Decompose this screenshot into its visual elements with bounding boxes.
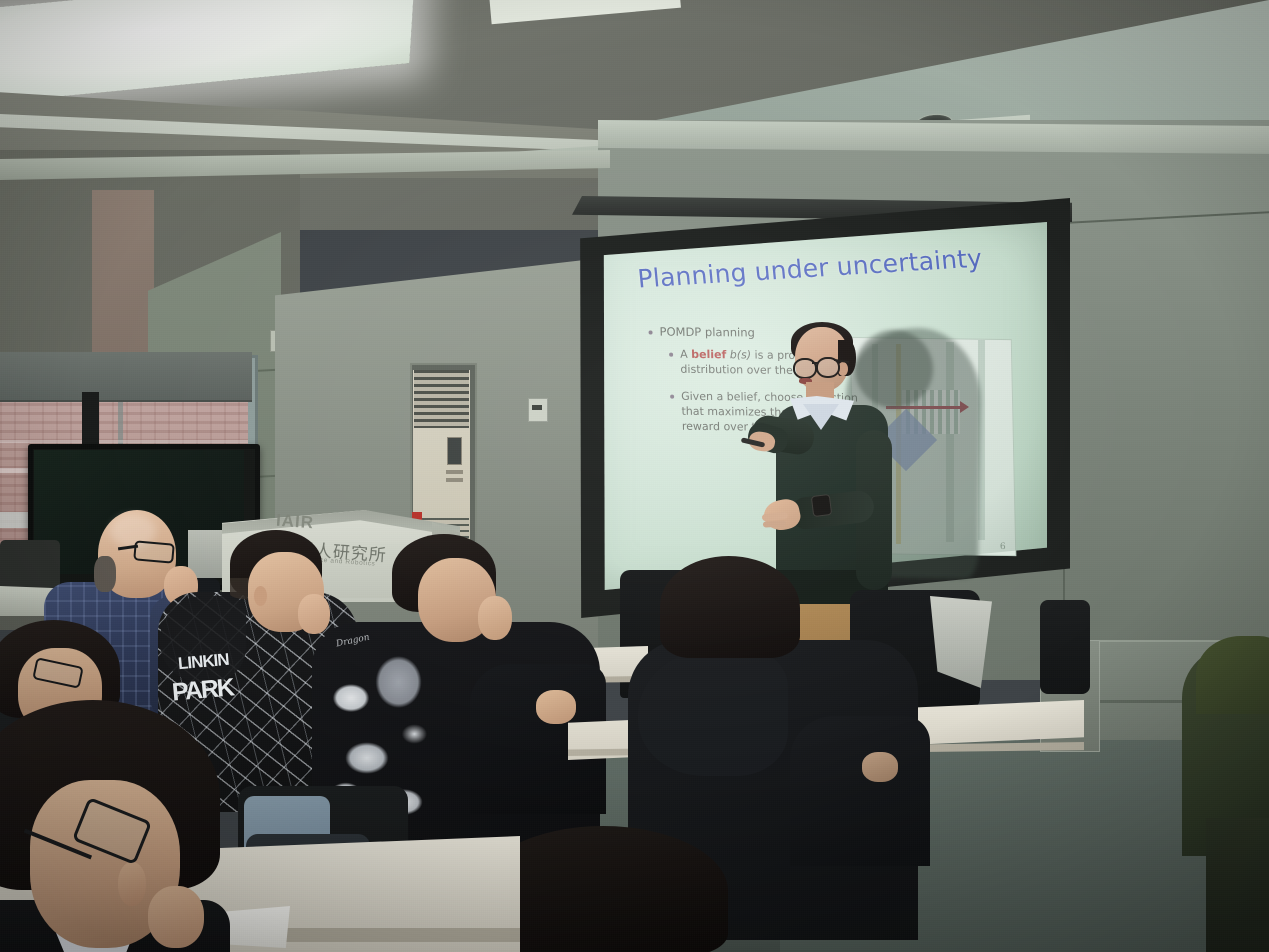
ac-label xyxy=(446,470,463,474)
wristwatch-icon xyxy=(811,494,832,517)
hoodie-text-line2: PARK xyxy=(171,673,234,707)
audience-arm xyxy=(790,716,930,866)
lecture-hall-photo: Planning under uncertainty POMDP plannin… xyxy=(0,0,1269,952)
light-switch-icon[interactable] xyxy=(528,398,548,422)
glasses-bridge xyxy=(812,362,818,364)
audience-hand xyxy=(148,886,204,948)
audience-hand xyxy=(478,596,512,640)
ac-label xyxy=(446,478,463,482)
audience-shoulder xyxy=(1196,636,1269,714)
audience-lower-body xyxy=(1206,818,1269,952)
audience-hand xyxy=(298,594,330,634)
light-switch-rocker[interactable] xyxy=(532,405,542,410)
audience-hand xyxy=(862,752,898,782)
window-blind-icon[interactable] xyxy=(0,352,252,402)
ac-grille xyxy=(414,370,469,428)
glasses-icon xyxy=(133,540,175,563)
audience-hair xyxy=(94,556,116,592)
window-band xyxy=(0,440,248,443)
ac-control-panel[interactable] xyxy=(447,437,462,465)
presenter-fingers xyxy=(763,520,786,527)
chair[interactable] xyxy=(1040,600,1090,694)
audience-hair xyxy=(660,556,800,658)
audience-ear xyxy=(254,586,267,606)
audience-hand xyxy=(536,690,576,724)
hood xyxy=(638,648,788,776)
audience-ear xyxy=(118,862,146,906)
